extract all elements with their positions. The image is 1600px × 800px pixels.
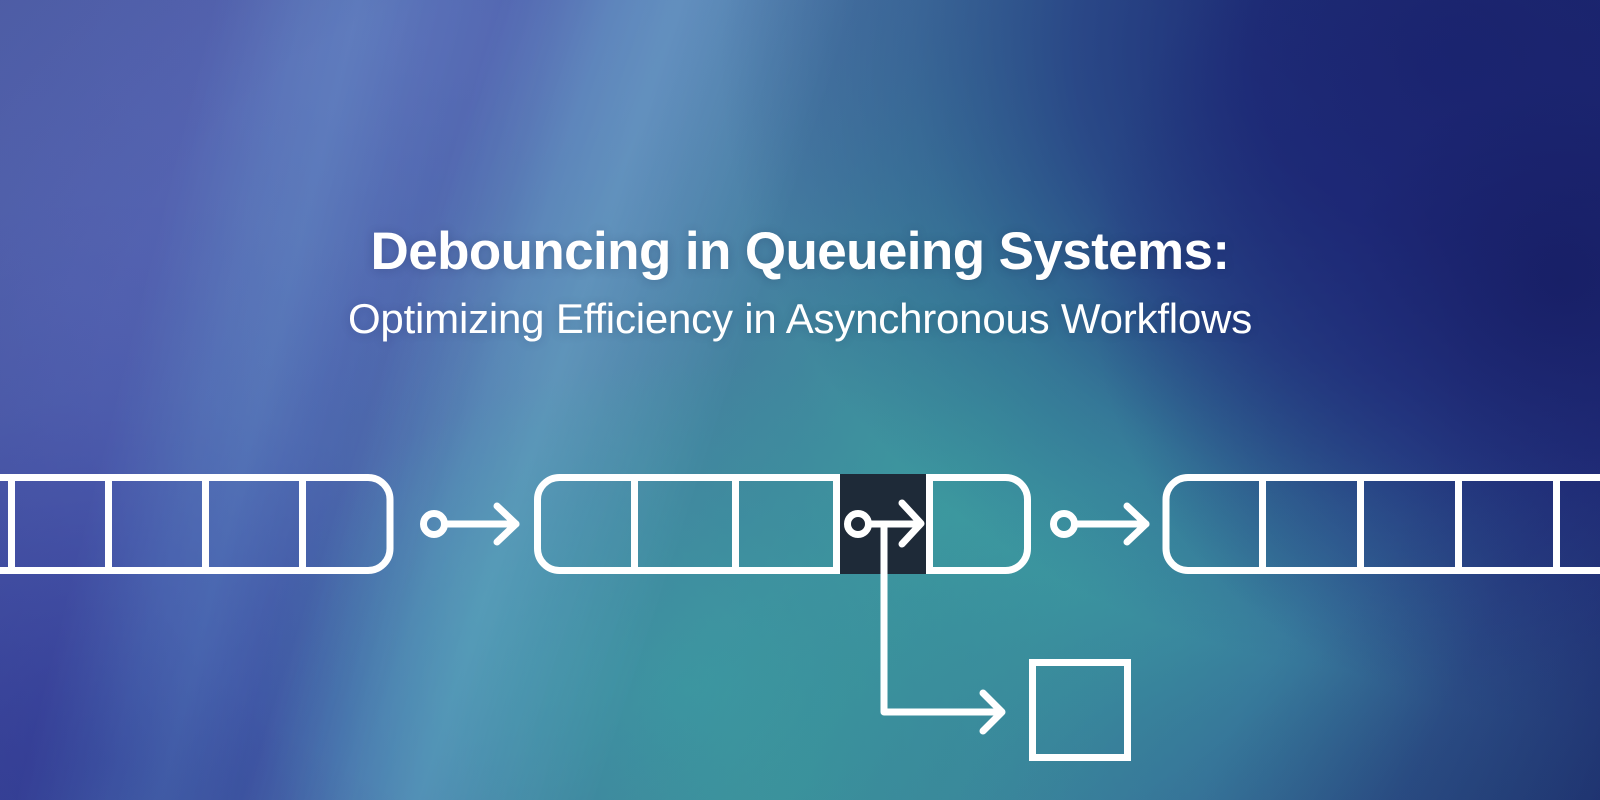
queue-1[interactable]	[0, 478, 390, 571]
queue-3[interactable]	[1166, 478, 1600, 571]
queue-diagram	[0, 0, 1600, 800]
queue-3-outline	[1166, 478, 1600, 571]
queue-2-outline	[538, 478, 1028, 571]
queue-2[interactable]	[538, 478, 1028, 571]
connector-3	[1054, 506, 1147, 542]
queue-diagram-svg	[0, 0, 1600, 800]
result-box[interactable]	[1033, 663, 1128, 758]
banner-canvas: Debouncing in Queueing Systems: Optimizi…	[0, 0, 1600, 800]
queue-1-outline	[0, 478, 390, 571]
connector-1	[424, 506, 517, 542]
